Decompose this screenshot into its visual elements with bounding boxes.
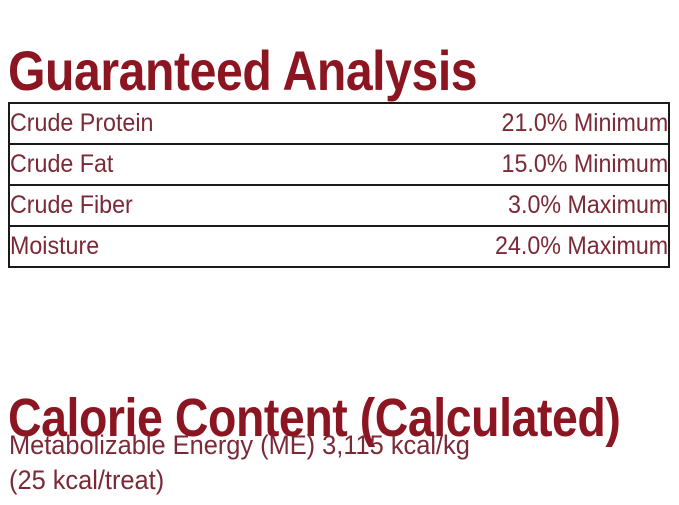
calorie-body-line: (25 kcal/treat) xyxy=(9,463,470,498)
nutrient-value: 3.0% Maximum xyxy=(508,191,668,220)
nutrient-label: Crude Fat xyxy=(10,150,113,179)
calorie-body-line: Metabolizable Energy (ME) 3,115 kcal/kg xyxy=(9,428,470,463)
nutrient-value: 21.0% Minimum xyxy=(501,109,668,138)
guaranteed-analysis-heading: Guaranteed Analysis xyxy=(8,40,477,102)
table-row: Crude Fiber 3.0% Maximum xyxy=(9,185,669,226)
table-cell-nutrient: Moisture xyxy=(9,226,372,267)
table-cell-nutrient: Crude Fiber xyxy=(9,185,372,226)
table-cell-value: 3.0% Maximum xyxy=(372,185,669,226)
nutrient-label: Crude Protein xyxy=(10,109,153,138)
calorie-content-body: Metabolizable Energy (ME) 3,115 kcal/kg … xyxy=(9,428,499,498)
table-row: Crude Fat 15.0% Minimum xyxy=(9,144,669,185)
table-cell-nutrient: Crude Protein xyxy=(9,103,372,144)
table-row: Crude Protein 21.0% Minimum xyxy=(9,103,669,144)
nutrient-value: 15.0% Minimum xyxy=(501,150,668,179)
table-cell-value: 15.0% Minimum xyxy=(372,144,669,185)
table-row: Moisture 24.0% Maximum xyxy=(9,226,669,267)
nutrient-label: Moisture xyxy=(10,232,99,261)
nutrient-value: 24.0% Maximum xyxy=(495,232,668,261)
guaranteed-analysis-table: Crude Protein 21.0% Minimum Crude Fat 15… xyxy=(8,102,670,268)
guaranteed-analysis-table-body: Crude Protein 21.0% Minimum Crude Fat 15… xyxy=(9,103,669,267)
nutrition-label-sheet: Guaranteed Analysis Crude Protein 21.0% … xyxy=(0,0,679,505)
table-cell-nutrient: Crude Fat xyxy=(9,144,372,185)
table-cell-value: 24.0% Maximum xyxy=(372,226,669,267)
nutrient-label: Crude Fiber xyxy=(10,191,133,220)
table-cell-value: 21.0% Minimum xyxy=(372,103,669,144)
